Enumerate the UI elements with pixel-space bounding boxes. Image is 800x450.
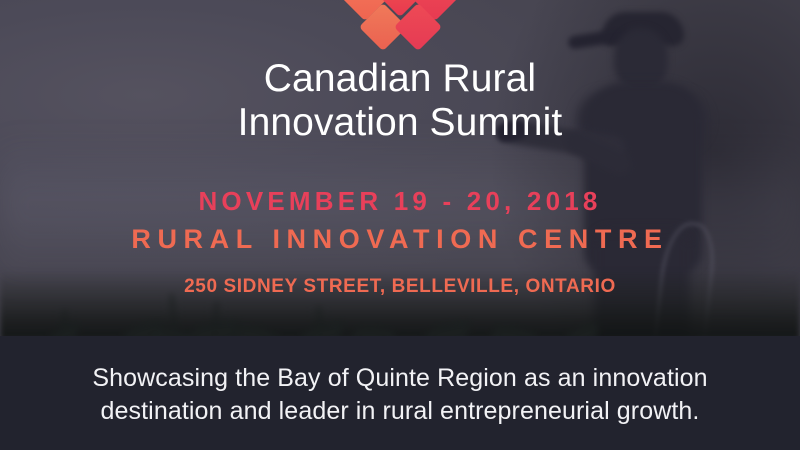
event-tagline-line-2: destination and leader in rural entrepre… [101,397,700,425]
event-address: 250 SIDNEY STREET, BELLEVILLE, ONTARIO [0,276,800,298]
event-title: Canadian Rural Innovation Summit [0,57,800,145]
event-title-line-2: Innovation Summit [238,101,563,144]
summit-diamond-logo [340,0,460,50]
event-poster: Canadian Rural Innovation Summit NOVEMBE… [0,0,800,450]
event-tagline: Showcasing the Bay of Quinte Region as a… [0,362,800,428]
tagline-band: Showcasing the Bay of Quinte Region as a… [0,336,800,450]
event-tagline-line-1: Showcasing the Bay of Quinte Region as a… [92,364,707,392]
event-date: NOVEMBER 19 - 20, 2018 [0,186,800,217]
event-venue: RURAL INNOVATION CENTRE [0,224,800,255]
event-title-line-1: Canadian Rural [264,57,536,100]
